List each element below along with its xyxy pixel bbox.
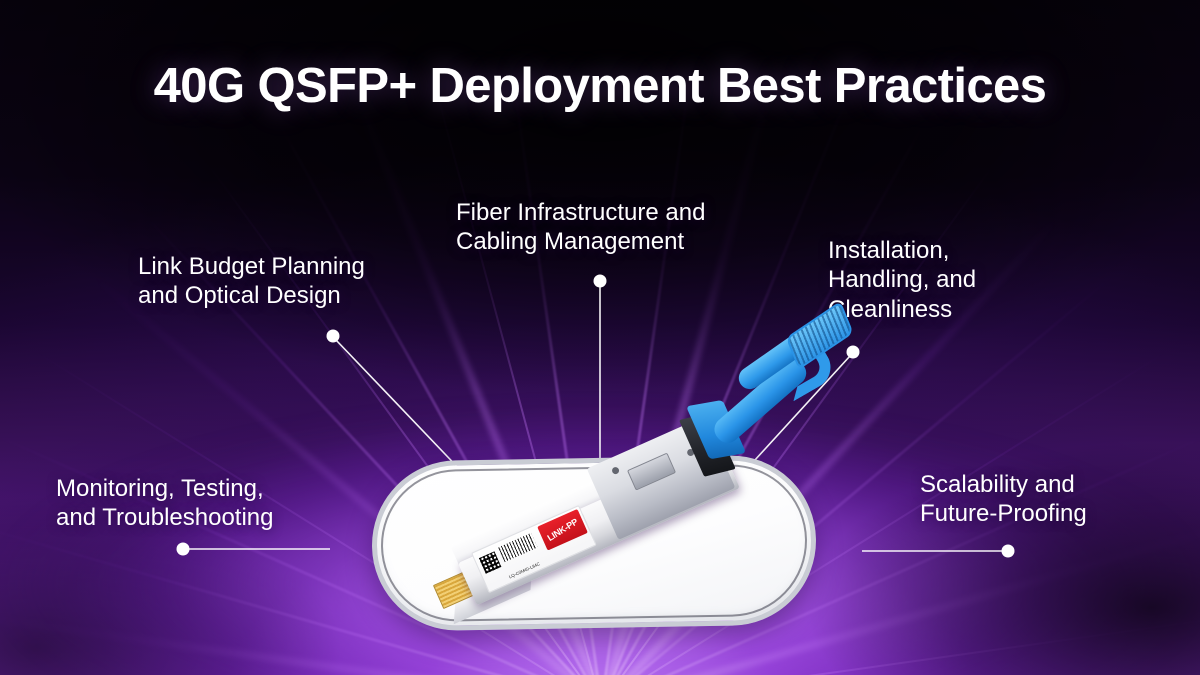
- callout-fiber-infrastructure: Fiber Infrastructure and Cabling Managem…: [456, 198, 705, 257]
- infographic-stage: 40G QSFP+ Deployment Best Practices Link…: [0, 0, 1200, 675]
- callout-line: and Optical Design: [138, 281, 365, 310]
- callout-link-budget: Link Budget Planning and Optical Design: [138, 252, 365, 311]
- callout-line: Fiber Infrastructure and: [456, 198, 705, 227]
- page-title: 40G QSFP+ Deployment Best Practices: [0, 58, 1200, 114]
- qsfp-module: LINK-PP LQ-C0M40-L84C: [399, 366, 829, 675]
- barcode-icon: [498, 533, 537, 562]
- callout-line: Handling, and: [828, 265, 976, 294]
- qr-code-icon: [479, 551, 501, 573]
- callout-line: and Troubleshooting: [56, 503, 274, 532]
- brand-name: LINK-PP: [546, 517, 580, 543]
- module-window: [627, 453, 676, 491]
- callout-monitoring: Monitoring, Testing, and Troubleshooting: [56, 474, 274, 533]
- callout-line: Installation,: [828, 236, 976, 265]
- callout-line: Scalability and: [920, 470, 1087, 499]
- module-screw-icon: [611, 466, 620, 475]
- callout-line: Cabling Management: [456, 227, 705, 256]
- callout-line: Link Budget Planning: [138, 252, 365, 281]
- callout-line: Future-Proofing: [920, 499, 1087, 528]
- callout-scalability: Scalability and Future-Proofing: [920, 470, 1087, 529]
- module-pull-tab[interactable]: [680, 302, 898, 480]
- product-illustration: LINK-PP LQ-C0M40-L84C: [352, 432, 852, 657]
- callout-line: Monitoring, Testing,: [56, 474, 274, 503]
